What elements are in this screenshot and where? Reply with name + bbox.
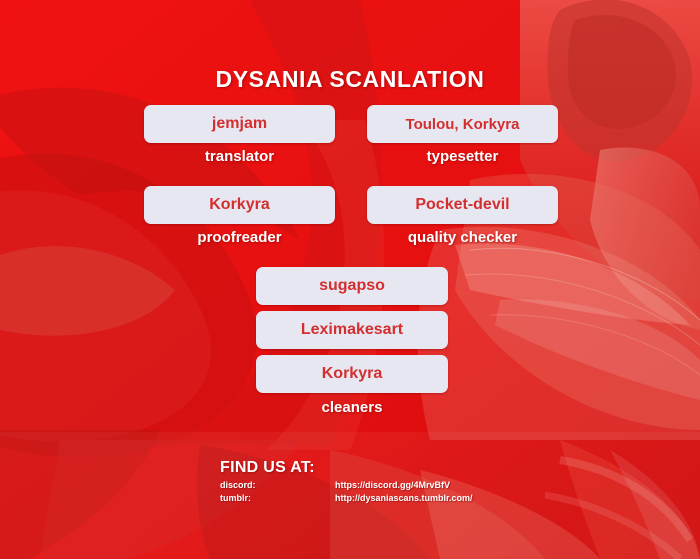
- credit-role-label: proofreader: [144, 229, 335, 246]
- credit-name-box: Pocket-devil: [367, 186, 558, 224]
- credit-role-label: translator: [144, 148, 335, 165]
- footer-title: FIND US AT:: [220, 459, 473, 477]
- credit-row: Korkyra proofreader Pocket-devil quality…: [144, 186, 558, 246]
- credit-name-box: Korkyra: [144, 186, 335, 224]
- credit-role-label: quality checker: [367, 229, 558, 246]
- credit-name-box: Korkyra: [256, 355, 448, 393]
- footer: FIND US AT: discord: https://discord.gg/…: [220, 459, 473, 505]
- credit-role-label: cleaners: [256, 399, 448, 416]
- credits-content: DYSANIA SCANLATION jemjam translator Tou…: [0, 0, 700, 559]
- footer-link-row: discord: https://discord.gg/4MrvBfV: [220, 479, 473, 492]
- credits-page: DYSANIA SCANLATION jemjam translator Tou…: [0, 0, 700, 559]
- credit-column-typesetter: Toulou, Korkyra typesetter: [367, 105, 558, 165]
- credit-name-box: Toulou, Korkyra: [367, 105, 558, 143]
- credit-column-proofreader: Korkyra proofreader: [144, 186, 335, 246]
- footer-link-row: tumblr: http://dysaniascans.tumblr.com/: [220, 492, 473, 505]
- page-title: DYSANIA SCANLATION: [0, 66, 700, 93]
- credit-row: jemjam translator Toulou, Korkyra typese…: [144, 105, 558, 165]
- credit-column-cleaners: sugapso Leximakesart Korkyra cleaners: [256, 267, 448, 416]
- footer-link-discord[interactable]: https://discord.gg/4MrvBfV: [335, 479, 450, 492]
- credit-name-box: sugapso: [256, 267, 448, 305]
- credit-name-box: Leximakesart: [256, 311, 448, 349]
- footer-link-label: discord:: [220, 479, 335, 492]
- footer-link-tumblr[interactable]: http://dysaniascans.tumblr.com/: [335, 492, 473, 505]
- credit-column-translator: jemjam translator: [144, 105, 335, 165]
- credit-role-label: typesetter: [367, 148, 558, 165]
- footer-link-label: tumblr:: [220, 492, 335, 505]
- credit-column-quality-checker: Pocket-devil quality checker: [367, 186, 558, 246]
- credit-name-box: jemjam: [144, 105, 335, 143]
